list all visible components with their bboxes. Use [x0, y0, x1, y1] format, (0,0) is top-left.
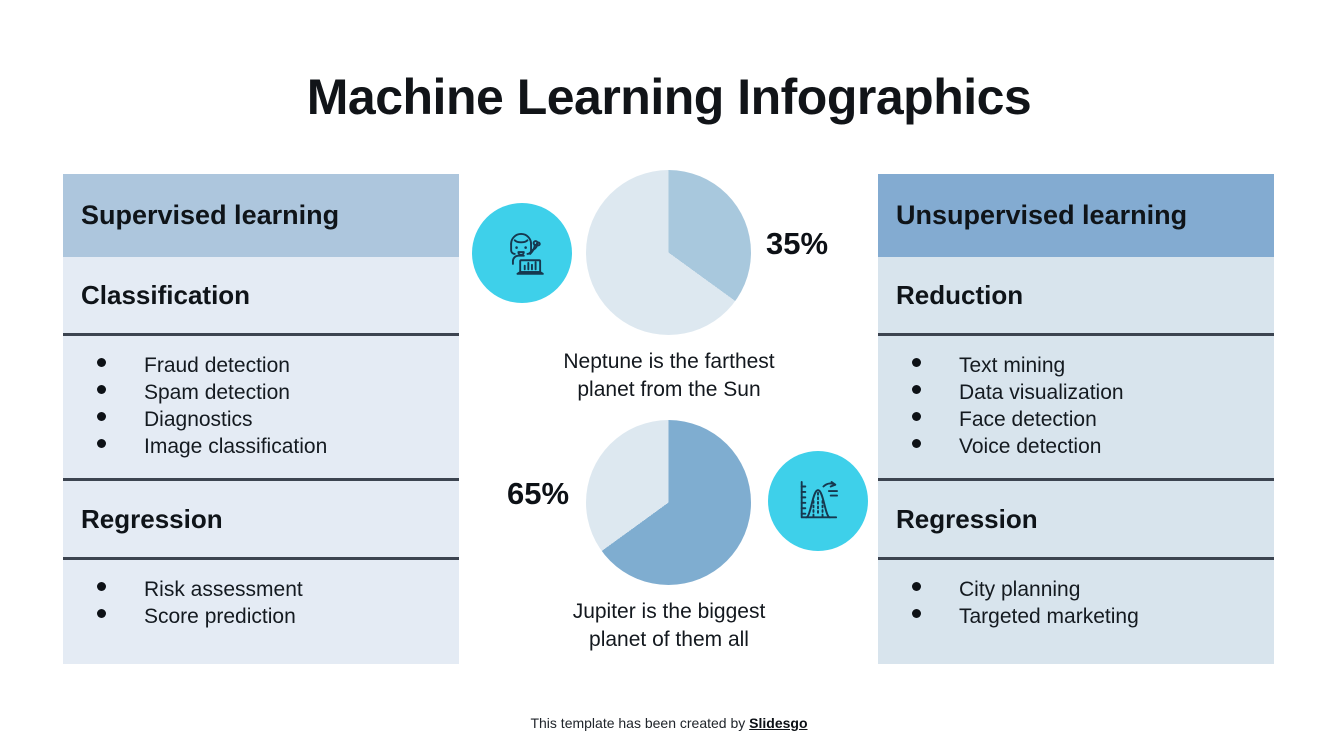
section-title-regression-right: Regression [878, 481, 1274, 560]
unsupervised-learning-panel: Unsupervised learning Reduction Text min… [878, 174, 1274, 664]
bullet-dot-icon [97, 582, 106, 591]
bullet-dot-icon [97, 609, 106, 618]
list-item: Diagnostics [63, 406, 459, 433]
panel-body-unsupervised: Reduction Text mining Data visualization… [878, 257, 1274, 664]
list-item: Data visualization [878, 379, 1274, 406]
pie-value-label-neptune: 35% [766, 226, 828, 262]
center-charts-area: 35% Neptune is the farthest planet from … [459, 0, 879, 753]
list-item-label: Voice detection [959, 433, 1101, 460]
footer-credit: This template has been created by Slides… [0, 715, 1338, 731]
panel-header-supervised: Supervised learning [63, 174, 459, 257]
bullet-block-reduction: Text mining Data visualization Face dete… [878, 336, 1274, 481]
list-item-label: Face detection [959, 406, 1097, 433]
bullet-list-classification: Fraud detection Spam detection Diagnosti… [63, 352, 459, 460]
bullet-dot-icon [912, 385, 921, 394]
list-item: Face detection [878, 406, 1274, 433]
bell-curve-chart-icon [789, 472, 847, 530]
list-item-label: Risk assessment [144, 576, 303, 603]
list-item: Text mining [878, 352, 1274, 379]
bullet-block-classification: Fraud detection Spam detection Diagnosti… [63, 336, 459, 481]
pie-caption-neptune: Neptune is the farthest planet from the … [459, 348, 879, 404]
list-item-label: City planning [959, 576, 1080, 603]
bullet-list-regression-left: Risk assessment Score prediction [63, 576, 459, 630]
list-item: Targeted marketing [878, 603, 1274, 630]
list-item-label: Targeted marketing [959, 603, 1139, 630]
footer-text: This template has been created by [530, 715, 749, 731]
bullet-dot-icon [97, 358, 106, 367]
bullet-list-regression-right: City planning Targeted marketing [878, 576, 1274, 630]
list-item-label: Diagnostics [144, 406, 253, 433]
caption-line-1: Neptune is the farthest [459, 348, 879, 376]
list-item-label: Text mining [959, 352, 1065, 379]
slidesgo-link[interactable]: Slidesgo [749, 715, 807, 731]
list-item-label: Fraud detection [144, 352, 290, 379]
list-item-label: Data visualization [959, 379, 1124, 406]
panel-body-supervised: Classification Fraud detection Spam dete… [63, 257, 459, 664]
bullet-dot-icon [912, 439, 921, 448]
list-item: Voice detection [878, 433, 1274, 460]
bell-curve-chart-icon-badge [768, 451, 868, 551]
data-analyst-icon-badge [472, 203, 572, 303]
bullet-dot-icon [912, 609, 921, 618]
bullet-dot-icon [912, 412, 921, 421]
bullet-block-regression-left: Risk assessment Score prediction [63, 560, 459, 664]
section-title-reduction: Reduction [878, 257, 1274, 336]
panel-header-unsupervised: Unsupervised learning [878, 174, 1274, 257]
bullet-block-regression-right: City planning Targeted marketing [878, 560, 1274, 664]
list-item: Fraud detection [63, 352, 459, 379]
pie-value-label-jupiter: 65% [507, 476, 569, 512]
caption-line-2: planet of them all [459, 626, 879, 654]
section-title-classification: Classification [63, 257, 459, 336]
pie-chart-jupiter [586, 420, 751, 585]
list-item-label: Image classification [144, 433, 327, 460]
list-item: Score prediction [63, 603, 459, 630]
bullet-dot-icon [97, 439, 106, 448]
list-item: Image classification [63, 433, 459, 460]
bullet-dot-icon [97, 412, 106, 421]
caption-line-2: planet from the Sun [459, 376, 879, 404]
section-title-regression-left: Regression [63, 481, 459, 560]
bullet-dot-icon [97, 385, 106, 394]
slide-canvas: Machine Learning Infographics Supervised… [0, 0, 1338, 753]
list-item: City planning [878, 576, 1274, 603]
list-item: Spam detection [63, 379, 459, 406]
supervised-learning-panel: Supervised learning Classification Fraud… [63, 174, 459, 664]
pie-caption-jupiter: Jupiter is the biggest planet of them al… [459, 598, 879, 654]
list-item: Risk assessment [63, 576, 459, 603]
bullet-dot-icon [912, 358, 921, 367]
list-item-label: Spam detection [144, 379, 290, 406]
caption-line-1: Jupiter is the biggest [459, 598, 879, 626]
pie-chart-neptune [586, 170, 751, 335]
bullet-dot-icon [912, 582, 921, 591]
list-item-label: Score prediction [144, 603, 296, 630]
data-analyst-icon [493, 224, 551, 282]
bullet-list-reduction: Text mining Data visualization Face dete… [878, 352, 1274, 460]
